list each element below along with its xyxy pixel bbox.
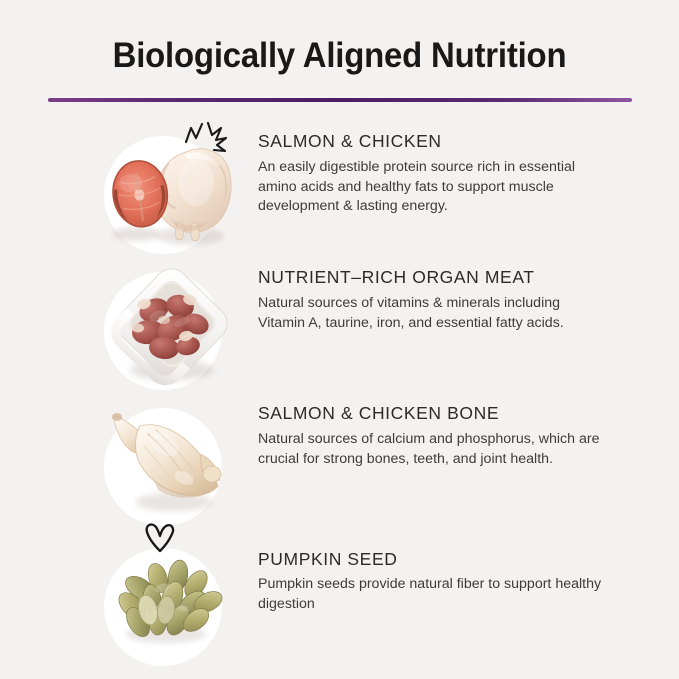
item-description: Pumpkin seeds provide natural fiber to s… [258, 575, 608, 614]
item-title: NUTRIENT–RICH ORGAN MEAT [258, 266, 608, 288]
item-media-pumpkin-seed [92, 522, 252, 662]
header: Biologically Aligned Nutrition [0, 34, 679, 78]
item-title: SALMON & CHICKEN BONE [258, 402, 608, 424]
item-text-chicken-bone: SALMON & CHICKEN BONE Natural sources of… [258, 394, 608, 469]
item-text-pumpkin-seed: PUMPKIN SEED Pumpkin seeds provide natur… [258, 522, 608, 614]
item-media-organ-meat [92, 258, 252, 398]
item-title: PUMPKIN SEED [258, 548, 608, 570]
item-text-salmon-chicken: SALMON & CHICKEN An easily digestible pr… [258, 122, 608, 217]
salmon-steak-and-whole-chicken-photo [92, 122, 252, 262]
page-title: Biologically Aligned Nutrition [20, 34, 658, 78]
nutrition-infographic: Biologically Aligned Nutrition [0, 0, 679, 679]
item-media-salmon-chicken [92, 122, 252, 262]
item-text-organ-meat: NUTRIENT–RICH ORGAN MEAT Natural sources… [258, 258, 608, 333]
nutrition-item-chicken-bone: SALMON & CHICKEN BONE Natural sources of… [0, 394, 679, 534]
organ-meat-in-white-bowl-photo [92, 258, 252, 398]
nutrition-item-salmon-chicken: SALMON & CHICKEN An easily digestible pr… [0, 122, 679, 262]
nutrition-item-organ-meat: NUTRIENT–RICH ORGAN MEAT Natural sources… [0, 258, 679, 398]
item-media-chicken-bone [92, 394, 252, 534]
pumpkin-seeds-photo [92, 522, 252, 662]
chicken-wing-photo [92, 394, 252, 534]
nutrition-item-pumpkin-seed: PUMPKIN SEED Pumpkin seeds provide natur… [0, 522, 679, 662]
header-divider [48, 98, 632, 102]
item-title: SALMON & CHICKEN [258, 130, 608, 152]
item-description: Natural sources of vitamins & minerals i… [258, 294, 608, 333]
item-description: Natural sources of calcium and phosphoru… [258, 430, 608, 469]
item-description: An easily digestible protein source rich… [258, 158, 608, 217]
